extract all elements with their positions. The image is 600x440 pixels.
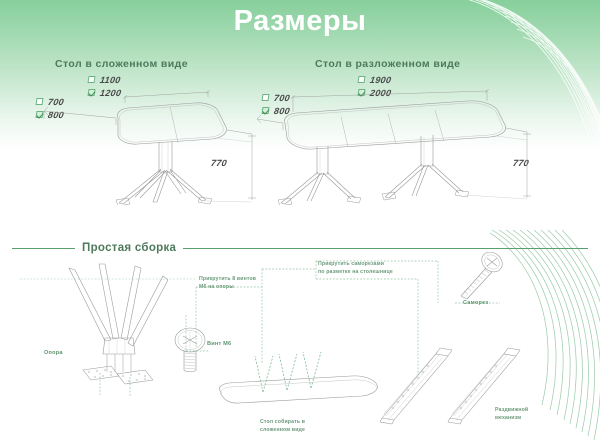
section-title-unfolded: Стол в разложенном виде (315, 58, 460, 70)
option-label: 800 (273, 106, 291, 116)
option-row[interactable]: 700 (36, 96, 64, 107)
assembly-title: Простая сборка (82, 242, 176, 254)
option-label: 1100 (99, 75, 121, 85)
poster-root: Размеры Стол в сложенном виде 1100 1200 (0, 0, 600, 440)
tabletop-markings-drawing (215, 352, 380, 412)
checkbox-unchecked-icon[interactable] (88, 76, 96, 83)
checkbox-checked-icon[interactable] (88, 89, 96, 96)
option-row[interactable]: 700 (262, 92, 290, 103)
bolt-m6-drawing (172, 326, 214, 376)
checkbox-unchecked-icon[interactable] (36, 98, 44, 105)
callout-screws: Прикрутить 8 винтов М6 на опоры (199, 276, 277, 291)
unfolded-depth-options[interactable]: 700 800 (262, 92, 290, 116)
option-label: 800 (47, 110, 65, 120)
callout-mechanism: Раздвижной механизм (495, 407, 555, 422)
part-label-support: Опора (44, 350, 63, 356)
option-label: 1200 (99, 88, 122, 98)
option-label: 2000 (369, 88, 392, 98)
part-label-bolt: Винт М6 (207, 341, 231, 347)
option-label: 1900 (369, 75, 392, 85)
checkbox-checked-icon[interactable] (36, 111, 44, 118)
folded-depth-options[interactable]: 700 800 (36, 96, 64, 120)
leg-assembly-drawing (55, 262, 185, 392)
checkbox-unchecked-icon[interactable] (358, 76, 366, 83)
page-title: Размеры (0, 5, 600, 38)
option-label: 700 (47, 97, 65, 107)
option-row[interactable]: 1900 (358, 74, 391, 85)
option-row[interactable]: 2000 (358, 87, 391, 98)
option-row[interactable]: 800 (262, 105, 290, 116)
checkbox-checked-icon[interactable] (262, 107, 270, 114)
section-title-folded: Стол в сложенном виде (55, 58, 188, 70)
callout-fold-note: Стол собирать в сложенном виде (260, 419, 340, 434)
option-row[interactable]: 1100 (88, 74, 121, 85)
folded-width-options[interactable]: 1100 1200 (88, 74, 121, 98)
option-label: 700 (273, 93, 291, 103)
option-row[interactable]: 1200 (88, 87, 121, 98)
checkbox-unchecked-icon[interactable] (262, 94, 270, 101)
self-tapping-screw-drawing (455, 252, 507, 304)
option-row[interactable]: 800 (36, 109, 64, 120)
unfolded-height-label: 770 (512, 158, 530, 168)
callout-self-tapping: Прикрутить саморезами по разметке на сто… (318, 261, 410, 276)
checkbox-checked-icon[interactable] (358, 89, 366, 96)
rule-left (12, 248, 75, 249)
assembly-section-header: Простая сборка (12, 240, 588, 256)
part-label-self-tap-screw: Саморез (463, 300, 488, 306)
rule-right (183, 248, 588, 249)
unfolded-width-options[interactable]: 1900 2000 (358, 74, 391, 98)
folded-height-label: 770 (210, 158, 228, 168)
